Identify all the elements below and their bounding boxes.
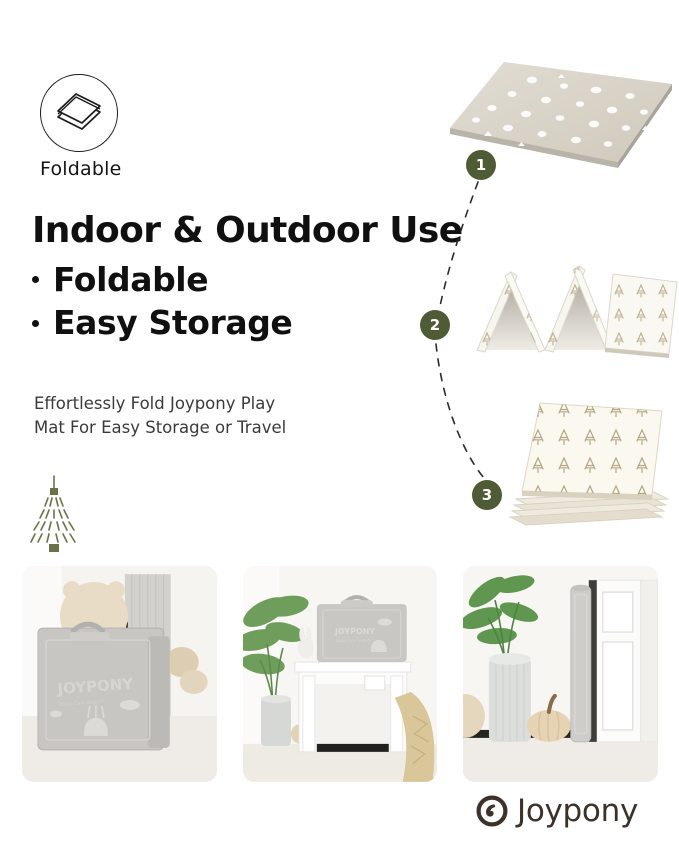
brand-logo-text: Joypony [517, 793, 638, 829]
svg-text:JOYPONY: JOYPONY [334, 627, 376, 636]
photo-bag-on-white-fireplace-mantel: JOYPONY Baby Care Expert [243, 566, 438, 782]
stacked-folded-sheets-icon [52, 91, 106, 135]
foldable-badge: Foldable [40, 74, 200, 180]
photo-bag-stored-beside-white-cabinet [463, 566, 658, 782]
headline-block: Indoor & Outdoor Use Foldable Easy Stora… [32, 212, 462, 345]
step-number: 1 [476, 156, 486, 174]
bullet-label: Easy Storage [53, 301, 292, 345]
folding-steps-diagram: 1 2 3 [400, 40, 679, 560]
subcopy-line-1: Effortlessly Fold Joypony Play [34, 392, 354, 416]
subcopy-block: Effortlessly Fold Joypony Play Mat For E… [34, 392, 354, 440]
bullet-dot-icon [32, 320, 39, 327]
step-3-folded-stack-illustration [500, 395, 679, 530]
step-badge-2: 2 [420, 310, 450, 340]
subcopy-line-2: Mat For Easy Storage or Travel [34, 416, 354, 440]
list-item: Easy Storage [32, 301, 462, 345]
photo-storage-bag-with-teddy-bear: JOYPONY Baby Care Expert [22, 566, 217, 782]
bullet-label: Foldable [53, 258, 208, 302]
feature-bullet-list: Foldable Easy Storage [32, 258, 462, 345]
bullet-dot-icon [32, 276, 39, 283]
step-number: 3 [482, 486, 492, 504]
joypony-circle-mark-icon [476, 795, 508, 827]
step-badge-3: 3 [472, 480, 502, 510]
brand-logo: Joypony [476, 791, 638, 831]
photo-2-scene: JOYPONY Baby Care Expert [243, 566, 438, 782]
list-item: Foldable [32, 258, 462, 302]
photo-1-scene: JOYPONY Baby Care Expert [22, 566, 217, 782]
product-feature-page: Foldable Indoor & Outdoor Use Foldable E… [0, 0, 679, 849]
step-2-accordion-folded-illustration [455, 230, 679, 360]
lifestyle-photo-row: JOYPONY Baby Care Expert [22, 566, 658, 782]
foldable-label: Foldable [40, 158, 200, 180]
decorative-pine-tree-icon [22, 472, 86, 558]
step-badge-1: 1 [466, 150, 496, 180]
foldable-circle [40, 74, 118, 152]
svg-text:Baby Care Expert: Baby Care Expert [336, 638, 371, 643]
step-number: 2 [430, 316, 440, 334]
photo-3-scene [463, 566, 658, 782]
page-title: Indoor & Outdoor Use [32, 212, 462, 250]
